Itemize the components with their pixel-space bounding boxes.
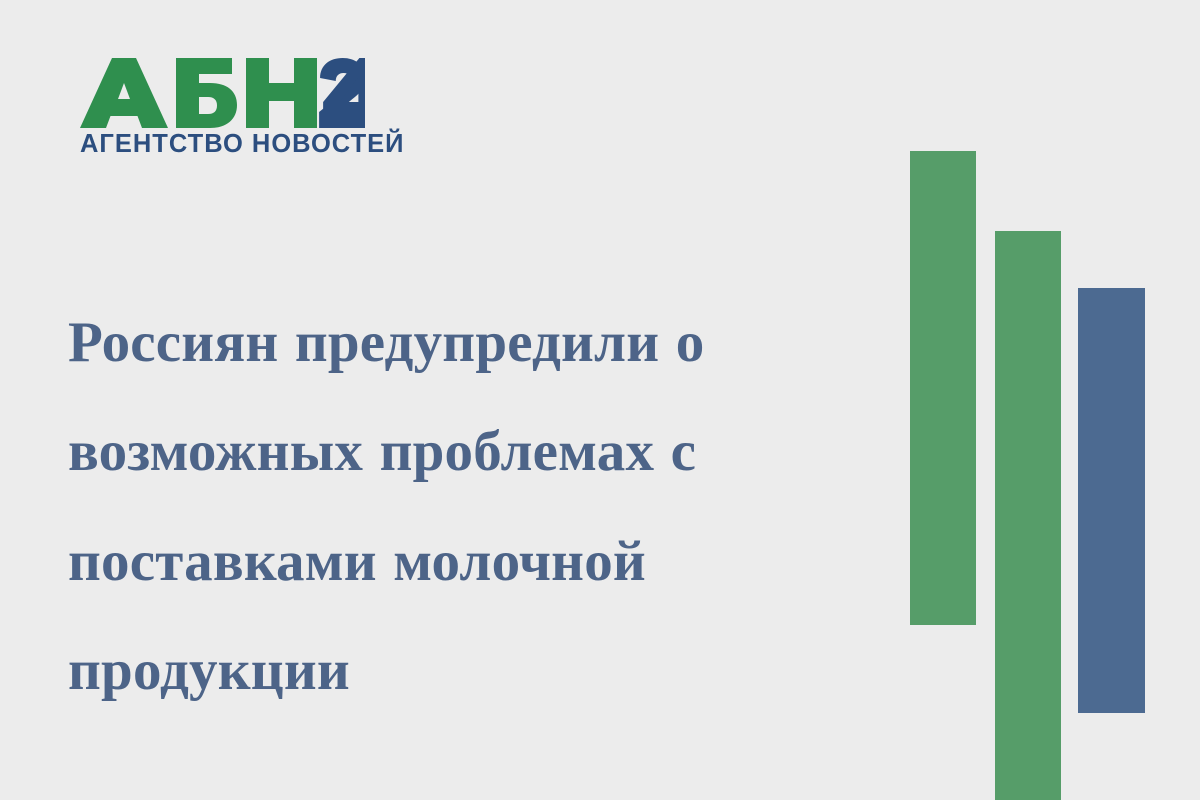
site-logo[interactable]: АГЕНТСТВО НОВОСТЕЙ xyxy=(80,58,380,166)
decorative-bar-2 xyxy=(995,231,1061,800)
logo-tagline: АГЕНТСТВО НОВОСТЕЙ xyxy=(80,132,380,158)
decorative-bar-3 xyxy=(1078,288,1145,713)
bar-graphic xyxy=(900,0,1200,800)
decorative-bar-1 xyxy=(910,151,976,625)
abn24-logo-icon xyxy=(80,58,365,128)
page-title: Россиян предупредили о возможных проблем… xyxy=(68,288,868,726)
logo-wordmark xyxy=(80,58,365,128)
news-card: АГЕНТСТВО НОВОСТЕЙ Россиян предупредили … xyxy=(0,0,1200,800)
